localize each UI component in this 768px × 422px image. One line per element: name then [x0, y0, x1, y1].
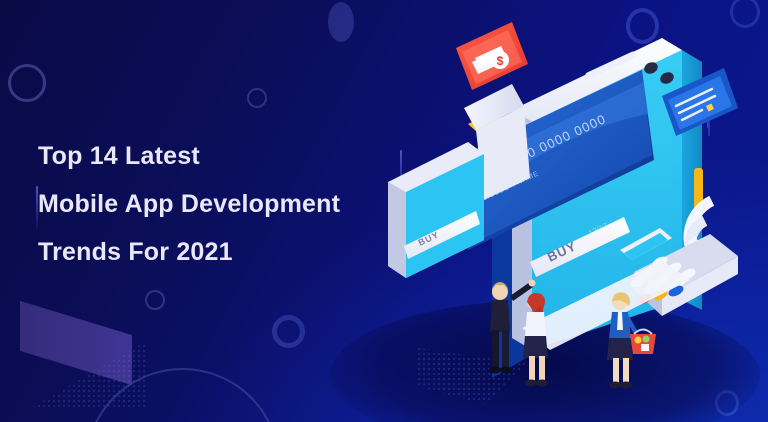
shopping-basket-icon — [630, 330, 656, 355]
page-title: Top 14 Latest Mobile App Development Tre… — [38, 132, 418, 276]
parallelogram-bottom-left — [20, 301, 132, 385]
ring-mid-left — [145, 290, 165, 310]
hero-banner: Top 14 Latest Mobile App Development Tre… — [0, 0, 768, 422]
ellipse-fill-top — [328, 2, 354, 42]
headline-line-2: Mobile App Development — [38, 180, 418, 228]
ring-top-mid — [247, 88, 267, 108]
money-card: $ — [456, 22, 528, 90]
dollar-symbol: $ — [497, 54, 504, 68]
ring-top-left — [8, 64, 46, 102]
ring-bottom-mid — [272, 315, 305, 348]
isometric-illustration: 0000 0000 0000 0000 CARDHOLDER NAME 12/1… — [372, 10, 768, 390]
headline-line-1: Top 14 Latest — [38, 132, 418, 180]
headline-line-3: Trends For 2021 — [38, 228, 418, 276]
